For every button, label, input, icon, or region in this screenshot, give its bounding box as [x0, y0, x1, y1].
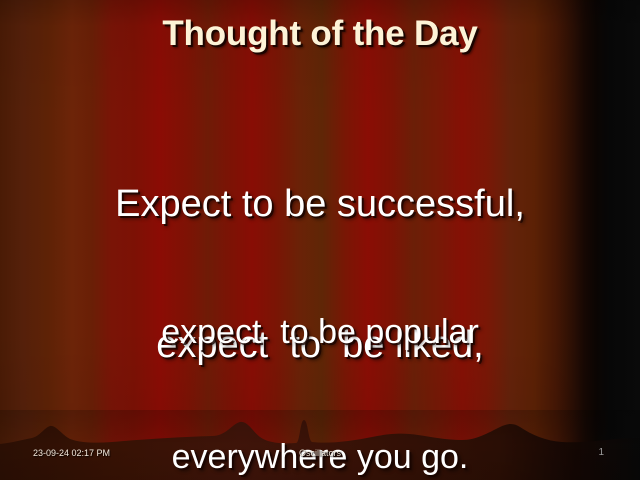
- presentation-slide: Thought of the Day Expect to be successf…: [0, 0, 640, 480]
- quote-line-1: Expect to be successful,: [28, 181, 612, 228]
- quote-line-3: expect to be popular: [28, 312, 612, 354]
- slide-title: Thought of the Day: [0, 14, 640, 54]
- footer-page-number: 1: [598, 447, 604, 458]
- footer-center-label: Oscillators: [0, 448, 640, 458]
- quote-block-two: expect to be popular everywhere you go.: [28, 228, 612, 480]
